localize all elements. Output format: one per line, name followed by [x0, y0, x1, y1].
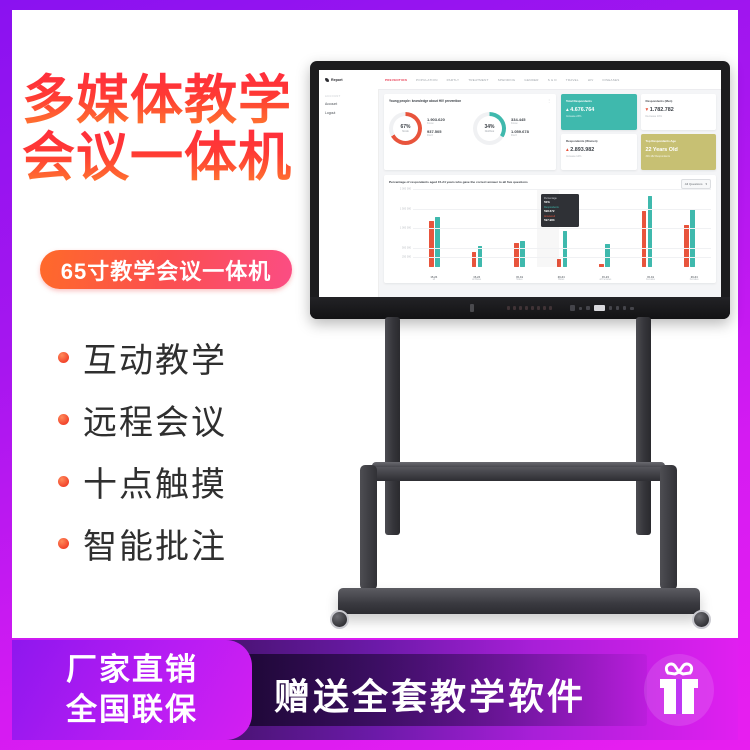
usb-port-icon — [570, 305, 575, 311]
nav-item-prevention[interactable]: PREVENTION — [385, 78, 407, 82]
know-label: Know — [511, 122, 529, 125]
bar-respondents[interactable] — [684, 225, 689, 268]
kpi-card-respondents-men: Respondents (Men) ▾ 1.782.782 Decrease 1… — [641, 94, 717, 130]
dashboard-content: Young people: knowledge about HIV preven… — [379, 89, 721, 297]
brand-label: Report — [331, 78, 343, 82]
kpi-subtext: Increase 14% — [566, 155, 632, 158]
x-axis-label: 15-24all Females — [600, 276, 612, 282]
bar-answered[interactable] — [563, 231, 568, 267]
kpi-card-total-respondents: Total Respondents ▴ 4.676.764 Increase 2… — [561, 94, 637, 130]
stand-post-left — [385, 317, 400, 535]
kpi-value: 1.782.782 — [650, 107, 674, 113]
indicator-led-icon — [579, 307, 582, 310]
y-axis: 2 000 0001 500 0001 000 000500 000250 00… — [389, 189, 413, 267]
nav-item-hiv[interactable]: HIV — [588, 78, 594, 82]
gridline — [413, 189, 711, 190]
feature-label: 远程会议 — [83, 395, 227, 444]
kpi-subtext: Decrease 10% — [646, 115, 712, 118]
donut-group-male: 67% MALE 1.903.620 Know 937.505 — [389, 112, 467, 145]
kpi-title: Total Respondents — [566, 99, 632, 103]
gridline — [413, 228, 711, 229]
bullet-dot-icon — [58, 414, 69, 425]
dashboard-app: Report PREVENTION POPULATION PARTLY TREA… — [319, 70, 721, 297]
chart-tooltip: Percentage 50% Respondents 598.672 Answe… — [541, 194, 579, 227]
y-axis-tick: 500 000 — [402, 246, 411, 249]
x-axis-label: 15-24all — [430, 276, 437, 282]
button-icon — [609, 306, 612, 310]
bar-answered[interactable] — [690, 209, 695, 267]
x-axis-label-group: all — [430, 279, 437, 282]
kpi-value: 2.893.982 — [570, 147, 594, 153]
nav-item-s-and-d[interactable]: S & D — [548, 78, 557, 82]
nav-item-population[interactable]: POPULATION — [416, 78, 438, 82]
banner-left-tab: 厂家直销 全国联保 — [12, 640, 252, 740]
feature-item: 智能批注 — [58, 512, 308, 574]
question-filter-value: All Questions — [685, 182, 703, 186]
model-badge: 65寸教学会议一体机 — [40, 250, 292, 289]
bar-answered[interactable] — [435, 217, 440, 267]
donut-stats: 334.445 Know 1.059.678 Don't — [511, 117, 529, 139]
bar-respondents[interactable] — [472, 252, 477, 267]
gridline — [413, 257, 711, 258]
button-icon — [616, 306, 619, 310]
feature-label: 互动教学 — [83, 333, 227, 382]
donut-stats: 1.903.620 Know 937.505 Don't — [427, 117, 445, 139]
nav-item-diseases[interactable]: DISEASES — [603, 78, 620, 82]
x-axis-label-group: Females — [646, 279, 655, 282]
caster-wheel-icon — [692, 610, 711, 629]
bullet-dot-icon — [58, 352, 69, 363]
dashboard-sidebar: ACCOUNT Account Logout — [319, 89, 379, 297]
x-axis-label-group: Males — [516, 279, 523, 282]
kpi-grid: Total Respondents ▴ 4.676.764 Increase 2… — [561, 94, 716, 170]
x-axis-label: 15-19Males — [516, 276, 523, 282]
kpi-value: 22 Years Old — [646, 147, 678, 153]
dashboard-topbar: Report PREVENTION POPULATION PARTLY TREA… — [319, 70, 721, 90]
panel-bottom-bezel — [310, 297, 730, 319]
nav-item-gender[interactable]: GENDER — [524, 78, 538, 82]
x-axis-label: 15-24all Males — [472, 276, 481, 282]
x-axis-label: 20-24Females — [690, 276, 699, 282]
x-axis-label-group: all Males — [472, 279, 481, 282]
kpi-card-top-age: Top Respondents Age 22 Years Old 346.182… — [641, 134, 717, 170]
kpi-title: Respondents (Women) — [566, 139, 632, 143]
bar-chart-card: Percentage of respondents aged 15-24 yea… — [384, 175, 716, 283]
ir-sensor-icon — [594, 305, 605, 311]
knowledge-card: Young people: knowledge about HIV preven… — [384, 94, 556, 170]
dont-value: 1.059.678 — [511, 129, 529, 134]
know-label: Know — [427, 122, 445, 125]
kpi-title: Top Respondents Age — [646, 139, 712, 143]
promo-banner: 厂家直销 全国联保 赠送全套教学软件 — [12, 640, 738, 740]
kpi-card-respondents-women: Respondents (Women) ▴ 2.893.982 Increase… — [561, 134, 637, 170]
nav-item-travel[interactable]: TRAVEL — [566, 78, 579, 82]
power-button-icon[interactable] — [470, 304, 474, 312]
headline: 多媒体教学 会议一体机 — [22, 72, 322, 186]
x-axis-label: 15-19Females — [646, 276, 655, 282]
gridline — [413, 248, 711, 249]
sidebar-caption: ACCOUNT — [325, 95, 372, 98]
feature-label: 十点触摸 — [83, 457, 227, 506]
feature-label: 智能批注 — [83, 519, 227, 568]
donut-chart-male: 67% MALE — [389, 112, 422, 145]
bar-respondents[interactable] — [642, 211, 647, 267]
nav-item-spending[interactable]: SPENDING — [498, 78, 516, 82]
summary-row: Young people: knowledge about HIV preven… — [384, 94, 716, 170]
bar-answered[interactable] — [520, 241, 525, 267]
button-icon — [586, 306, 590, 310]
nav-item-partly[interactable]: PARTLY — [447, 78, 460, 82]
caster-wheel-icon — [330, 610, 349, 629]
panel-screen: Report PREVENTION POPULATION PARTLY TREA… — [319, 70, 721, 297]
banner-main-text: 赠送全套教学软件 — [274, 668, 586, 720]
headline-line-2: 会议一体机 — [22, 129, 322, 186]
chart-title: Percentage of respondents aged 15-24 yea… — [389, 180, 589, 184]
dont-label: Don't — [511, 134, 529, 137]
feature-item: 远程会议 — [58, 388, 308, 450]
donut-caption: MALE — [400, 130, 410, 133]
headline-line-1: 多媒体教学 — [22, 72, 322, 129]
y-axis-tick: 1 000 000 — [400, 227, 411, 230]
question-filter-select[interactable]: All Questions ▾ — [681, 179, 711, 189]
x-axis-label-group: Males — [558, 279, 565, 282]
x-axis-label-group: Females — [690, 279, 699, 282]
gift-icon — [644, 654, 714, 726]
feature-list: 互动教学 远程会议 十点触摸 智能批注 — [58, 326, 308, 574]
kpi-title: Respondents (Men) — [646, 99, 712, 103]
feature-item: 十点触摸 — [58, 450, 308, 512]
report-logo-icon — [325, 78, 329, 82]
feature-item: 互动教学 — [58, 326, 308, 388]
donut-center: 67% MALE — [400, 124, 410, 133]
tooltip-value-answered: 597.983 — [544, 218, 576, 222]
kpi-subtext: 346.182 Respondents — [646, 155, 712, 158]
main-nav: PREVENTION POPULATION PARTLY TREATMENT S… — [385, 78, 620, 82]
stand-leg-right — [660, 465, 677, 590]
banner-left-line-1: 厂家直销 — [66, 650, 198, 690]
kpi-subtext: Increase 23% — [566, 115, 632, 118]
chart-plot-area: 2 000 0001 500 0001 000 000500 000250 00… — [389, 189, 711, 267]
donut-group-female: 34% FEMALE 334.445 Know 1.059.678 — [473, 112, 551, 145]
x-axis-label-group: all Females — [600, 279, 612, 282]
banner-left-line-2: 全国联保 — [66, 690, 198, 730]
button-icon — [623, 306, 626, 310]
y-axis-tick: 1 500 000 — [400, 207, 411, 210]
dont-label: Don't — [427, 134, 445, 137]
stand-shelf — [360, 467, 677, 481]
product-advertisement-page: 多媒体教学 会议一体机 65寸教学会议一体机 互动教学 远程会议 十点触摸 智能… — [0, 0, 750, 750]
kpi-value: 4.676.764 — [570, 107, 594, 113]
x-axis-label: 20-24Males — [558, 276, 565, 282]
chevron-down-icon: ▾ — [705, 182, 707, 186]
tooltip-value-respondents: 598.672 — [544, 209, 576, 213]
gift-icon-badge — [644, 654, 714, 726]
y-axis-tick: 2 000 000 — [400, 188, 411, 191]
donut-center: 34% FEMALE — [484, 124, 494, 133]
bar-respondents[interactable] — [514, 243, 519, 267]
y-axis-tick: 250 000 — [402, 256, 411, 259]
kebab-menu-icon[interactable]: ⋮ — [547, 99, 551, 102]
model-badge-label: 65寸教学会议一体机 — [61, 254, 271, 286]
stand-base-plate — [338, 588, 700, 614]
stand-leg-left — [360, 465, 377, 590]
button-icon — [630, 307, 634, 310]
tooltip-value-percentage: 50% — [544, 200, 576, 204]
knowledge-card-title: Young people: knowledge about HIV preven… — [389, 99, 551, 103]
port-panel — [570, 305, 634, 311]
donut-caption: FEMALE — [484, 130, 494, 133]
donut-chart-female: 34% FEMALE — [473, 112, 506, 145]
product-image: Report PREVENTION POPULATION PARTLY TREA… — [300, 55, 740, 615]
bullet-dot-icon — [58, 476, 69, 487]
sidebar-item-logout[interactable]: Logout — [325, 111, 372, 115]
nav-item-treatment[interactable]: TREATMENT — [468, 78, 488, 82]
sidebar-item-account[interactable]: Account — [325, 102, 372, 106]
x-axis-labels: 15-24all15-24all Males15-19Males20-24Mal… — [413, 276, 716, 282]
speaker-grille-icon — [507, 306, 552, 310]
brand: Report — [319, 78, 385, 82]
interactive-flat-panel: Report PREVENTION POPULATION PARTLY TREA… — [310, 61, 730, 319]
bar-respondents[interactable] — [599, 264, 604, 267]
stand-post-right — [636, 317, 651, 535]
donut-group-list: 67% MALE 1.903.620 Know 937.505 — [389, 112, 551, 145]
bullet-dot-icon — [58, 538, 69, 549]
